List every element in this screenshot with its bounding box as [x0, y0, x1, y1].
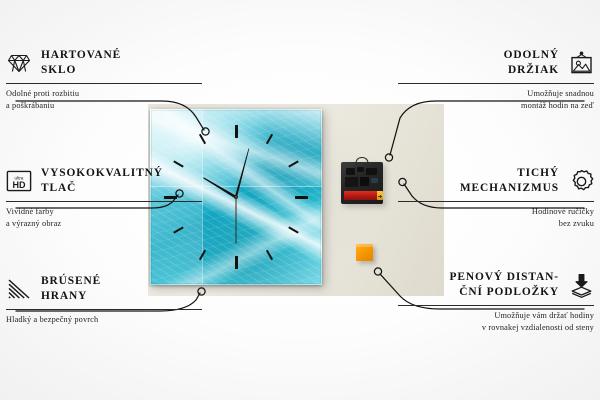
mechanism-detail: [371, 178, 378, 183]
mechanism-detail: [345, 177, 358, 187]
mechanism-detail: [357, 167, 364, 172]
feature-title: BRÚSENÉ HRANY: [41, 274, 101, 303]
mechanism-detail: [366, 168, 377, 175]
gear-icon: [568, 168, 594, 194]
feature-divider: [6, 201, 202, 202]
feature-foam-spacers: PENOVÝ DISTAN- ČNÍ PODLOŽKY Umožňuje vám…: [398, 268, 594, 334]
feature-divider: [6, 83, 202, 84]
foam-pad-highlight: [356, 244, 373, 247]
feature-description: Hodinové ručičky bez zvuku: [398, 206, 594, 230]
feature-header: BRÚSENÉ HRANY: [6, 272, 202, 306]
feature-description: Hladký a bezpečný povrch: [6, 314, 202, 326]
mechanism-detail: [346, 168, 355, 175]
feature-header: ultra HD VYSOKOKVALITNÝ TLAČ: [6, 164, 202, 198]
mechanism-detail: [360, 177, 369, 186]
feature-silent-mechanism: TICHÝ MECHANIZMUS Hodinové ručičky bez z…: [398, 164, 594, 230]
ultra-hd-icon: ultra HD: [6, 168, 32, 194]
foam-spacer-pad: [356, 244, 373, 261]
feature-description: Odolné proti rozbitiu a poškrábaniu: [6, 88, 202, 112]
foam-spacer-icon: [568, 272, 594, 298]
feature-header: HARTOVANÉ SKLO: [6, 46, 202, 80]
feature-description: Vividné farby a výrazný obraz: [6, 206, 202, 230]
feature-title: VYSOKOKVALITNÝ TLAČ: [41, 166, 163, 195]
mechanism-battery-plus-icon: [380, 195, 381, 198]
picture-hanger-icon: [568, 50, 594, 76]
feature-description: Umožňuje vám držať hodiny v rovnakej vzd…: [398, 310, 594, 334]
feature-header: ODOLNÝ DRŽIAK: [398, 46, 594, 80]
feature-durable-hanger: ODOLNÝ DRŽIAK Umožňuje snadnou montáž ho…: [398, 46, 594, 112]
feature-header: PENOVÝ DISTAN- ČNÍ PODLOŽKY: [398, 268, 594, 302]
feature-ground-edges: BRÚSENÉ HRANY Hladký a bezpečný povrch: [6, 272, 202, 326]
feature-divider: [6, 309, 202, 310]
mechanism-battery: [344, 191, 380, 200]
feature-title: HARTOVANÉ SKLO: [41, 48, 121, 77]
feature-divider: [398, 305, 594, 306]
feature-description: Umožňuje snadnou montáž hodin na zeď: [398, 88, 594, 112]
feature-header: TICHÝ MECHANIZMUS: [398, 164, 594, 198]
diamond-icon: [6, 50, 32, 76]
feature-title: TICHÝ MECHANIZMUS: [460, 166, 559, 195]
feature-tempered-glass: HARTOVANÉ SKLO Odolné proti rozbitiu a p…: [6, 46, 202, 112]
feature-title: ODOLNÝ DRŽIAK: [504, 48, 559, 77]
feature-divider: [398, 201, 594, 202]
feature-title: PENOVÝ DISTAN- ČNÍ PODLOŽKY: [449, 270, 559, 299]
feature-high-quality-print: ultra HD VYSOKOKVALITNÝ TLAČ Vividné far…: [6, 164, 202, 230]
bevelled-edges-icon: [6, 276, 32, 302]
product-feature-infographic: HARTOVANÉ SKLO Odolné proti rozbitiu a p…: [0, 0, 600, 400]
quartz-mechanism: [341, 162, 383, 204]
svg-text:HD: HD: [13, 180, 26, 190]
mechanism-hanger-icon: [356, 157, 369, 165]
feature-divider: [398, 83, 594, 84]
